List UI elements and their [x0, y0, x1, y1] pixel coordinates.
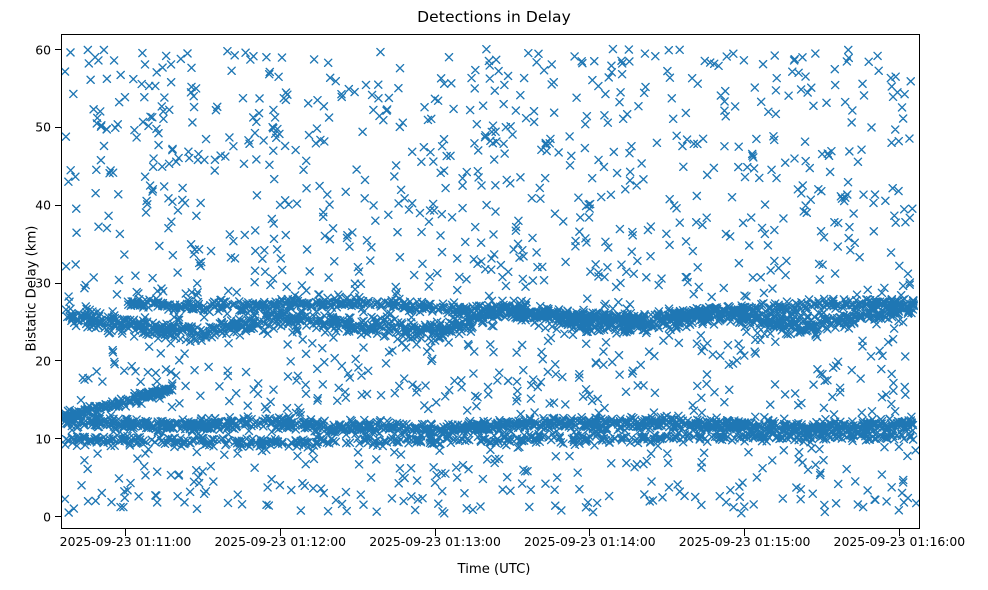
x-tick-label: 2025-09-23 01:14:00 [524, 534, 656, 549]
y-tick-label: 60 [0, 42, 51, 57]
figure-canvas: Detections in Delay 0102030405060 2025-0… [0, 0, 988, 590]
y-tick-mark [55, 127, 62, 128]
y-tick-label: 0 [0, 509, 51, 524]
x-tick-label: 2025-09-23 01:13:00 [369, 534, 501, 549]
y-tick-label: 10 [0, 431, 51, 446]
x-tick-label: 2025-09-23 01:15:00 [679, 534, 811, 549]
x-tick-label: 2025-09-23 01:11:00 [60, 534, 192, 549]
y-tick-mark [55, 205, 62, 206]
plot-axes-area [61, 34, 920, 529]
y-tick-mark [55, 516, 62, 517]
x-tick-label: 2025-09-23 01:16:00 [834, 534, 966, 549]
x-tick-label: 2025-09-23 01:12:00 [214, 534, 346, 549]
scatter-points [62, 45, 919, 516]
y-tick-mark [55, 438, 62, 439]
y-tick-mark [55, 360, 62, 361]
y-tick-mark [55, 283, 62, 284]
scatter-series-layer [62, 35, 919, 528]
y-axis-label: Bistatic Delay (km) [25, 179, 40, 399]
x-axis-label: Time (UTC) [0, 562, 988, 577]
y-tick-label: 50 [0, 120, 51, 135]
y-tick-mark [55, 49, 62, 50]
page-title: Detections in Delay [0, 8, 988, 26]
